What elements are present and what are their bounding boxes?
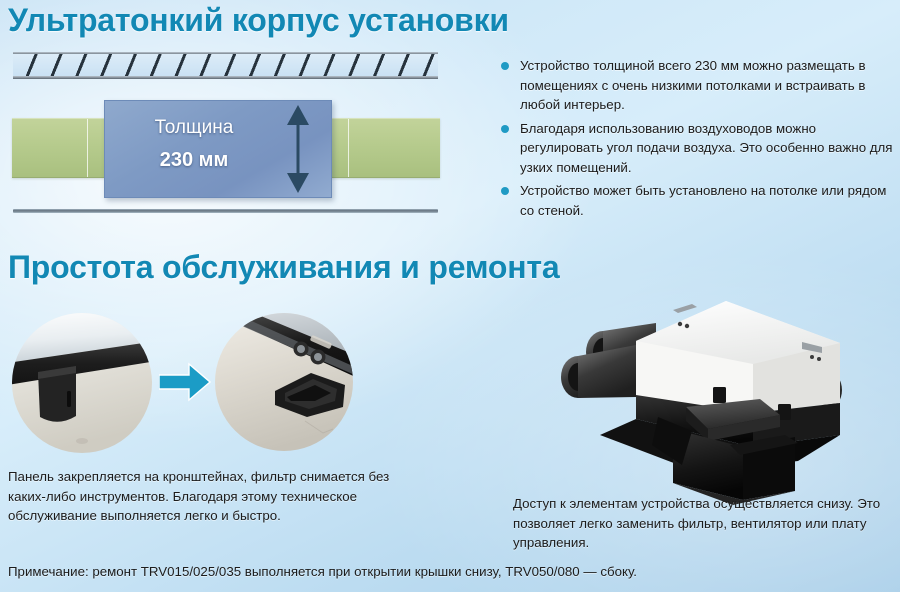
bullet-text: Устройство может быть установлено на пот… — [520, 183, 886, 218]
section-heading-1: Ультратонкий корпус установки — [8, 2, 509, 39]
right-arrow-icon — [159, 362, 211, 402]
note-text: Примечание: ремонт TRV015/025/035 выполн… — [8, 562, 888, 582]
duct-seam — [348, 119, 349, 177]
ceiling-ventilation-unit-photo — [540, 295, 895, 510]
ceiling-bottom-line — [13, 76, 438, 79]
thickness-diagram: Толщина 230 мм — [0, 40, 470, 225]
unit-body-block: Толщина 230 мм — [104, 100, 332, 198]
double-headed-vertical-arrow-icon — [285, 105, 311, 193]
air-duct-left — [12, 118, 105, 178]
bullet-dot-icon — [501, 187, 509, 195]
hatched-ceiling-icon — [13, 54, 438, 77]
air-duct-right — [330, 118, 440, 178]
bullet-item: Благодаря использованию воздуховодов мож… — [500, 119, 900, 178]
section-heading-2: Простота обслуживания и ремонта — [8, 249, 559, 286]
bullet-item: Устройство может быть установлено на пот… — [500, 181, 900, 220]
caption-left-text: Панель закрепляется на кронштейнах, филь… — [8, 467, 428, 526]
bracket-latch-closeup-photo — [215, 313, 353, 451]
panel-bracket-closeup-photo — [12, 313, 152, 453]
unit-thickness-label: Толщина — [105, 117, 283, 139]
feature-bullet-list: Устройство толщиной всего 230 мм можно р… — [500, 56, 900, 224]
bullet-text: Благодаря использованию воздуховодов мож… — [520, 121, 893, 175]
slide-canvas: Ультратонкий корпус установки Толщина 23… — [0, 0, 900, 592]
bullet-text: Устройство толщиной всего 230 мм можно р… — [520, 58, 866, 112]
bullet-item: Устройство толщиной всего 230 мм можно р… — [500, 56, 900, 115]
duct-seam — [87, 119, 88, 177]
unit-thickness-value: 230 мм — [105, 149, 283, 172]
bullet-dot-icon — [501, 62, 509, 70]
caption-right-text: Доступ к элементам устройства осуществля… — [513, 494, 898, 553]
floor-line — [13, 209, 438, 213]
bullet-dot-icon — [501, 125, 509, 133]
